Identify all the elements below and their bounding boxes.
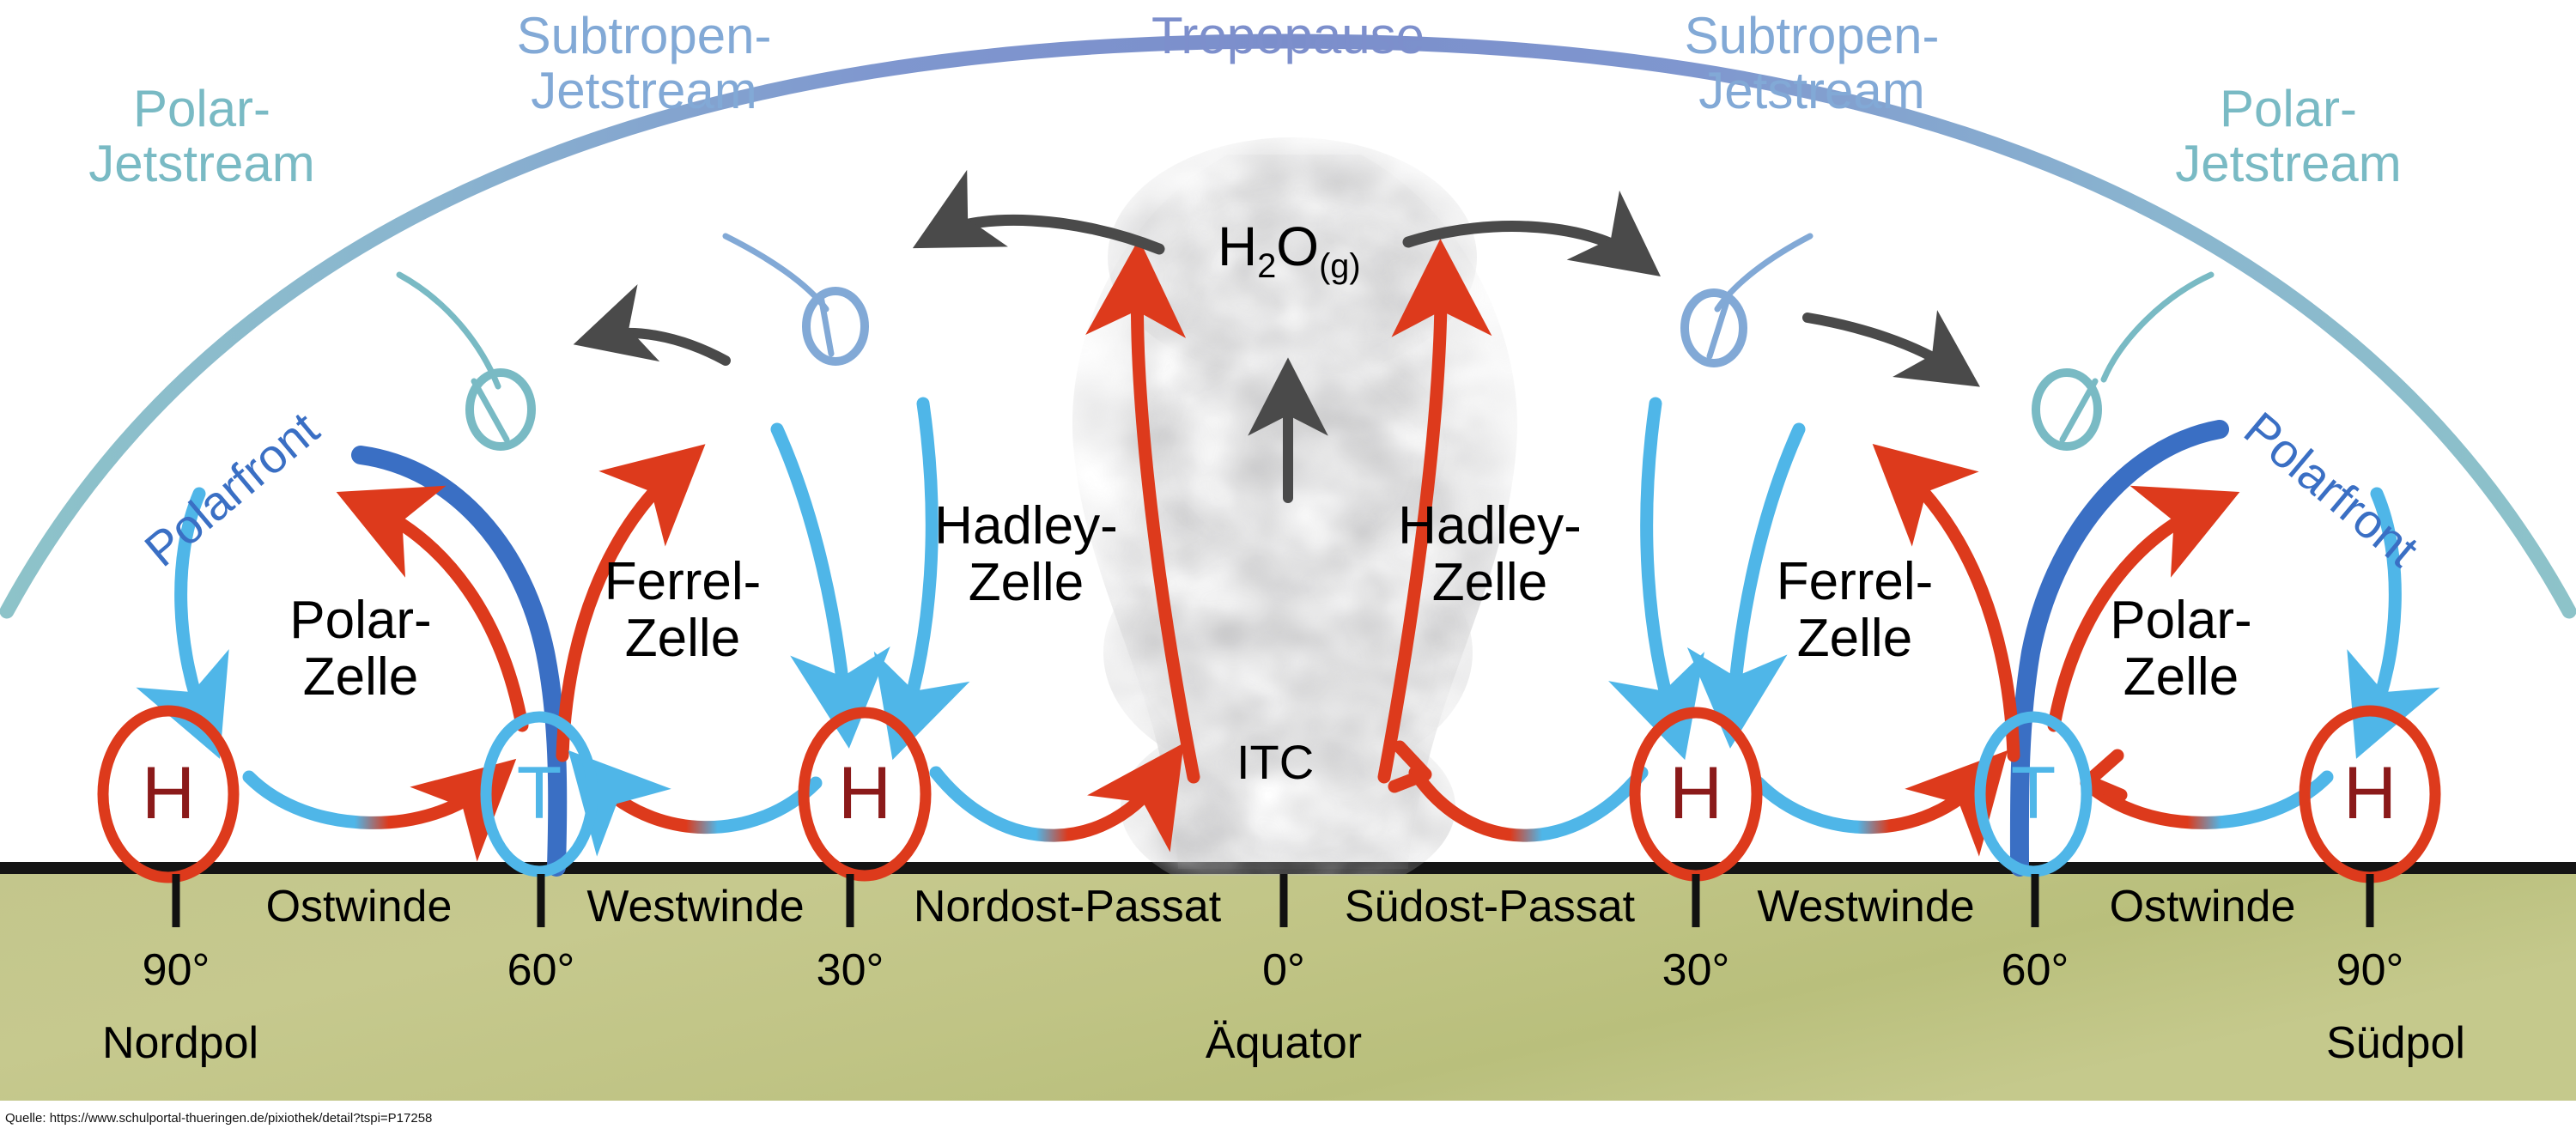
itc-label: ITC: [1236, 734, 1314, 790]
wind-band-westwinde-south: Westwinde: [1728, 881, 2003, 932]
pressure-letter-high-90s: H: [2318, 751, 2421, 836]
water-vapour-label: H2O(g): [1218, 215, 1361, 286]
pressure-letter-low-60n: T: [488, 751, 591, 836]
latitude-label-90s: 90°: [2284, 944, 2456, 996]
subtropen-jetstream-left-label: Subtropen-Jetstream: [511, 9, 777, 118]
tropopause-label: Tropopause: [1146, 9, 1430, 64]
pressure-letter-low-60s: T: [1982, 751, 2085, 836]
h2o-state-g: (g): [1319, 247, 1361, 285]
wind-band-suedost-passat: Südost-Passat: [1309, 881, 1670, 932]
hadley-cell-right-label: Hadley-Zelle: [1357, 498, 1623, 612]
h2o-h: H: [1218, 215, 1257, 277]
h2o-o: O: [1276, 215, 1319, 277]
polar-cell-right-label: Polar-Zelle: [2048, 592, 2314, 707]
latitude-label-30s: 30°: [1610, 944, 1782, 996]
latitude-label-30n: 30°: [764, 944, 936, 996]
diagram-canvas: Tropopause Polar-Jetstream Subtropen-Jet…: [0, 0, 2576, 1141]
ferrel-cell-left-label: Ferrel-Zelle: [550, 554, 816, 668]
h2o-subscript-2: 2: [1257, 247, 1276, 285]
equator-label: Äquator: [1121, 1017, 1447, 1069]
polar-cell-left-label: Polar-Zelle: [228, 592, 494, 707]
pole-label-south: Südpol: [2233, 1017, 2559, 1069]
wind-band-westwinde-north: Westwinde: [558, 881, 833, 932]
subtropen-jetstream-right-label: Subtropen-Jetstream: [1679, 9, 1945, 118]
polar-jetstream-right-label: Polar-Jetstream: [2160, 82, 2417, 191]
pressure-letter-high-90n: H: [117, 751, 220, 836]
pressure-letter-high-30s: H: [1644, 751, 1747, 836]
latitude-label-60s: 60°: [1949, 944, 2121, 996]
wind-band-ostwinde-north: Ostwinde: [230, 881, 488, 932]
latitude-label-60n: 60°: [455, 944, 627, 996]
ferrel-cell-right-label: Ferrel-Zelle: [1722, 554, 1988, 668]
latitude-label-0: 0°: [1198, 944, 1370, 996]
source-note: Quelle: https://www.schulportal-thuering…: [5, 1111, 432, 1126]
polar-jetstream-left-label: Polar-Jetstream: [73, 82, 331, 191]
pole-label-north: Nordpol: [17, 1017, 343, 1069]
hadley-cell-left-label: Hadley-Zelle: [893, 498, 1159, 612]
pressure-letter-high-30n: H: [813, 751, 916, 836]
wind-band-ostwinde-south: Ostwinde: [2074, 881, 2331, 932]
latitude-label-90n: 90°: [90, 944, 262, 996]
wind-band-nordost-passat: Nordost-Passat: [874, 881, 1261, 932]
